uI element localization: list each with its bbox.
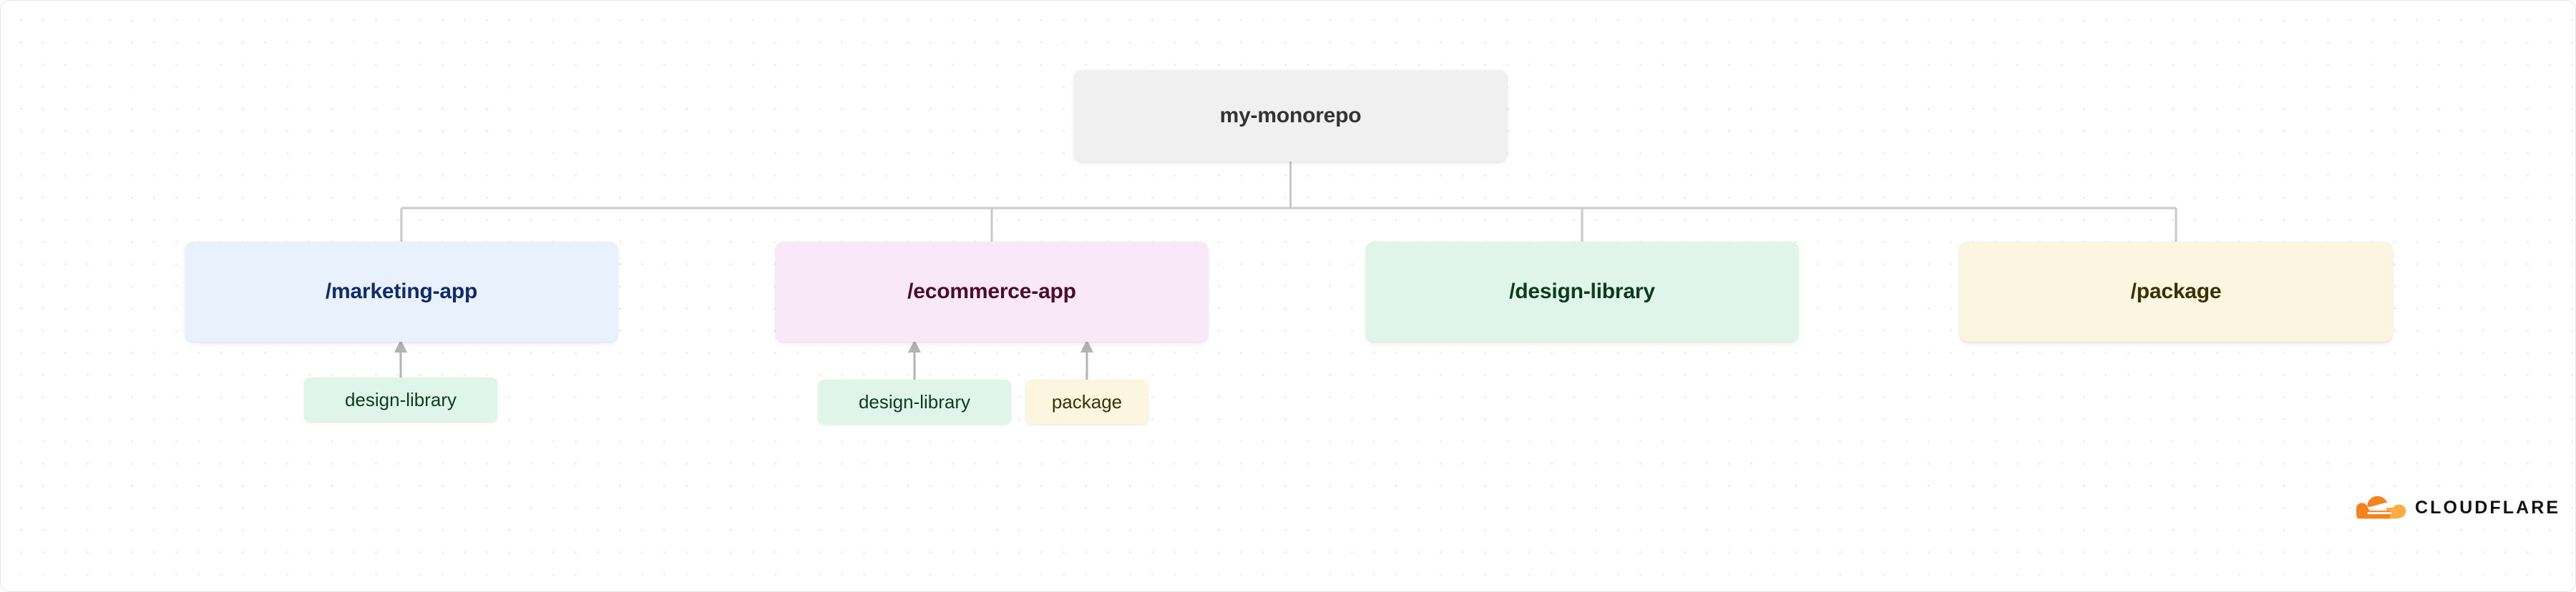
node-marketing-app[interactable]: /marketing-app [185,242,618,342]
node-package[interactable]: /package [1960,242,2392,342]
dependency-chip-ecommerce-design-library[interactable]: design-library [818,380,1011,424]
node-label-design-library: /design-library [1509,280,1655,304]
node-label-my-monorepo: my-monorepo [1220,104,1362,128]
node-my-monorepo[interactable]: my-monorepo [1074,70,1507,162]
cloudflare-wordmark: CLOUDFLARE [2415,498,2560,518]
diagram-canvas: my-monorepo /marketing-app /ecommerce-ap… [0,0,2576,592]
node-design-library[interactable]: /design-library [1366,242,1798,342]
dependency-chip-ecommerce-package[interactable]: package [1025,380,1148,424]
node-ecommerce-app[interactable]: /ecommerce-app [776,242,1208,342]
dependency-chip-marketing-design-library[interactable]: design-library [304,378,497,422]
node-label-ecommerce-app: /ecommerce-app [907,280,1076,304]
node-label-marketing-app: /marketing-app [326,280,477,304]
cloudflare-cloud-icon [2356,495,2406,520]
cloudflare-logo: CLOUDFLARE [2356,495,2560,520]
node-label-package: /package [2131,280,2222,304]
